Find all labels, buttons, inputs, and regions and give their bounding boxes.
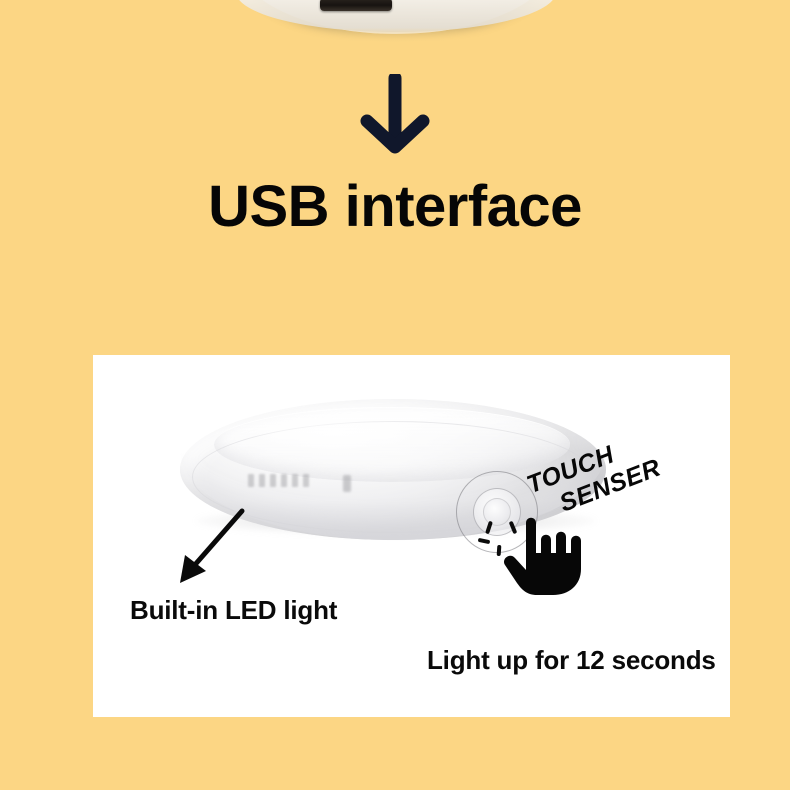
page-title: USB interface [0,172,790,242]
usb-charging-port-photo [0,0,790,44]
built-in-led-label: Built-in LED light [130,595,337,626]
usb-port-slot [320,0,392,11]
photo-fade-overlay [0,28,790,44]
light-duration-label: Light up for 12 seconds [427,645,716,676]
lamp-highlight [240,413,430,453]
internal-led-single [343,475,351,492]
down-arrow-icon [356,74,434,158]
diagonal-arrow-icon [168,505,252,591]
product-detail-panel: TOUCH SENSER Built-in LED light Light up… [93,355,730,717]
product-infographic: USB interface [0,0,790,790]
internal-led-strip [248,473,332,487]
